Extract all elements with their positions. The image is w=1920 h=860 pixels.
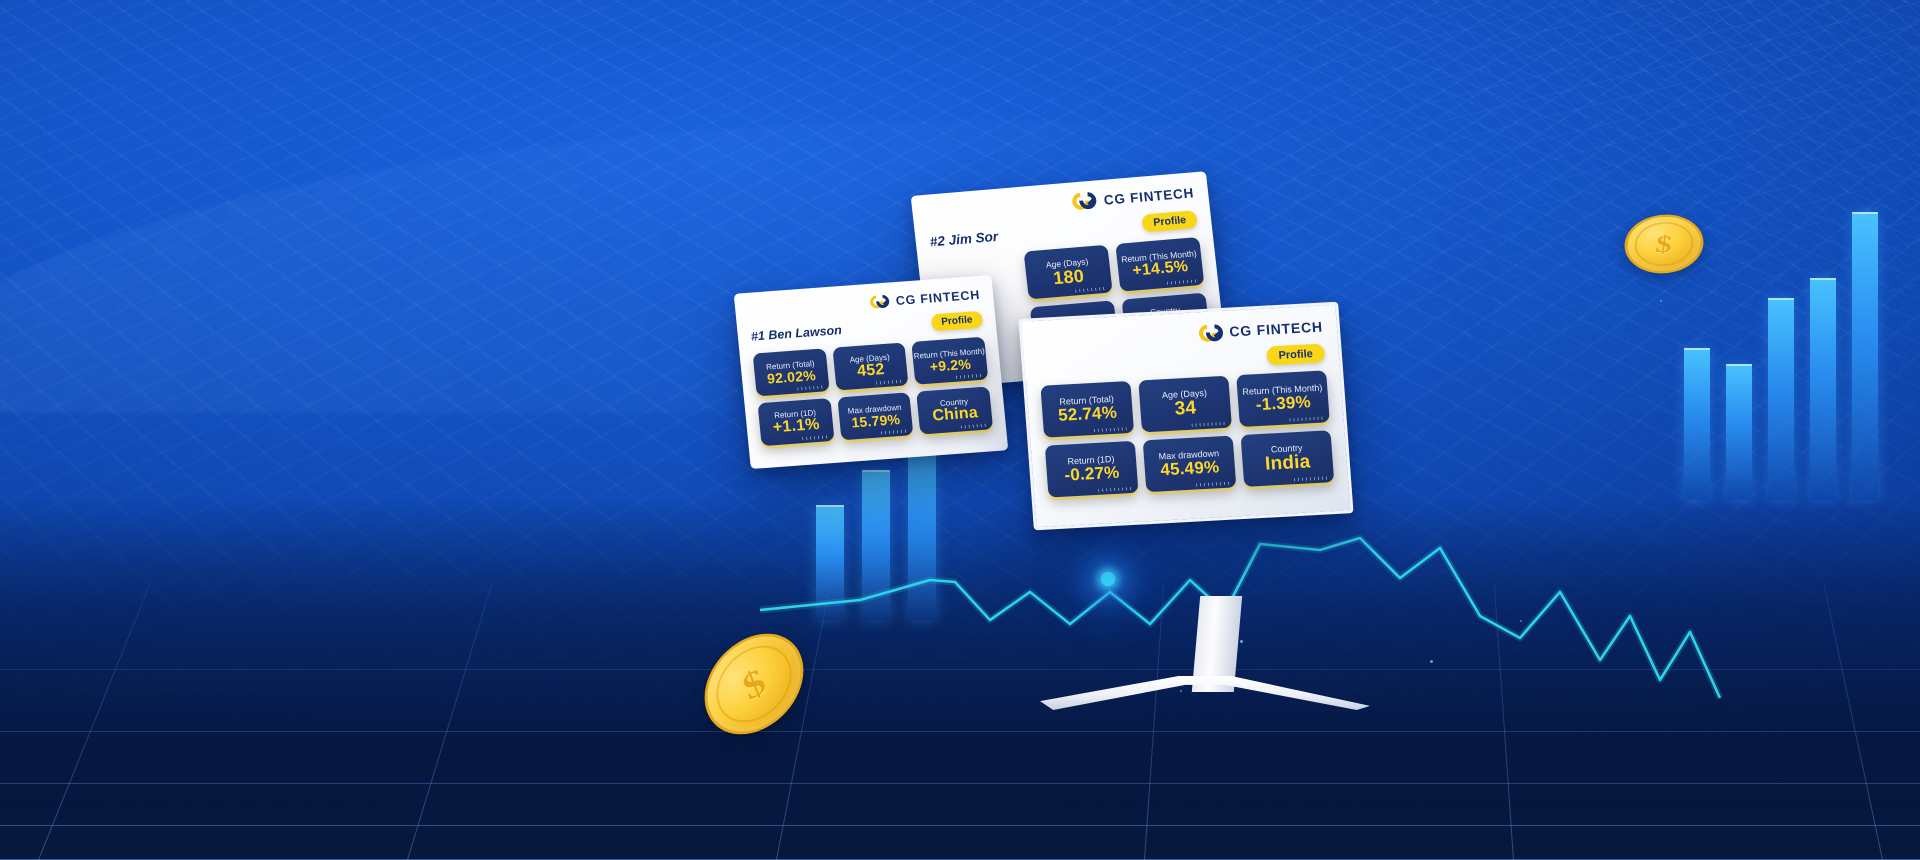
- sparkle-dot: [1660, 300, 1662, 302]
- stat-value: China: [932, 405, 979, 425]
- stat-tile[interactable]: Return (1D) -0.27%: [1045, 441, 1139, 498]
- cg-logo-icon: [1199, 323, 1223, 342]
- tile-dots: [876, 380, 902, 385]
- tile-dots: [1167, 279, 1197, 285]
- tile-dots: [1290, 417, 1323, 422]
- stat-tile[interactable]: Return (This Month) -1.39%: [1236, 370, 1330, 427]
- card-title: #1 Ben Lawson: [750, 323, 842, 344]
- profile-button[interactable]: Profile: [931, 311, 984, 332]
- tile-dots: [881, 429, 907, 434]
- tile-dots: [956, 374, 982, 379]
- tile-dots: [961, 424, 987, 429]
- stat-value: India: [1264, 452, 1311, 474]
- stats-grid: Return (Total) 52.74% Age (Days) 34 Retu…: [1040, 370, 1334, 497]
- card-title: #2 Jim Sor: [929, 228, 999, 249]
- stat-value: 92.02%: [766, 368, 816, 386]
- hero-scene: $ $ CG FINTECH #2 Jim Sor Profile Return…: [0, 0, 1920, 860]
- stat-tile[interactable]: Max drawdown 15.79%: [837, 392, 914, 440]
- cg-logo: CG FINTECH: [1071, 182, 1195, 212]
- sparkle-dot: [1520, 620, 1522, 622]
- trend-line-chart: [760, 520, 1920, 720]
- cg-logo: CG FINTECH: [1199, 318, 1324, 343]
- tile-dots: [1099, 487, 1132, 492]
- tile-dots: [1294, 476, 1327, 481]
- stat-tile[interactable]: Return (This Month) +9.2%: [912, 337, 989, 385]
- stat-value: 45.49%: [1160, 458, 1220, 479]
- stat-value: 180: [1052, 266, 1085, 287]
- sparkle-dot: [1180, 690, 1182, 692]
- cg-logo-icon: [869, 294, 889, 310]
- profile-button[interactable]: Profile: [1141, 210, 1198, 232]
- stat-value: 15.79%: [851, 412, 901, 430]
- tile-dots: [797, 386, 823, 391]
- brand-wordmark: CG FINTECH: [895, 288, 981, 308]
- stat-tile[interactable]: Age (Days) 180: [1024, 245, 1113, 300]
- stat-value: -0.27%: [1064, 464, 1120, 485]
- stat-tile[interactable]: Return (This Month) +14.5%: [1115, 237, 1204, 292]
- stat-tile[interactable]: Age (Days) 34: [1138, 376, 1232, 433]
- tile-dots: [1192, 422, 1225, 427]
- tile-dots: [802, 435, 828, 440]
- bar-chart-right: [1680, 180, 1920, 500]
- brand-wordmark: CG FINTECH: [1103, 185, 1195, 207]
- tile-dots: [1094, 427, 1127, 432]
- profile-button[interactable]: Profile: [1266, 343, 1326, 365]
- stat-value: -1.39%: [1255, 393, 1311, 414]
- tile-dots: [1075, 287, 1105, 293]
- data-point-glow: [1101, 572, 1115, 586]
- stat-tile[interactable]: Return (1D) +1.1%: [758, 398, 835, 446]
- tile-dots: [1196, 482, 1229, 487]
- stat-value: +9.2%: [929, 356, 971, 374]
- leaderboard-card-1[interactable]: CG FINTECH #1 Ben Lawson Profile Return …: [734, 275, 1009, 469]
- stat-tile[interactable]: Return (Total) 92.02%: [753, 348, 830, 396]
- stat-value: +14.5%: [1132, 259, 1190, 280]
- stats-grid: Return (Total) 92.02% Age (Days) 452 Ret…: [753, 337, 994, 447]
- cg-logo-icon: [1071, 190, 1098, 212]
- stat-tile[interactable]: Max drawdown 45.49%: [1143, 436, 1237, 493]
- stat-value: 452: [856, 362, 885, 381]
- stat-value: 34: [1174, 398, 1197, 419]
- leaderboard-card-3[interactable]: CG FINTECH Profile Return (Total) 52.74%…: [1018, 302, 1353, 531]
- coin-symbol: $: [1624, 216, 1704, 273]
- stat-value: +1.1%: [772, 417, 820, 437]
- stat-tile[interactable]: Return (Total) 52.74%: [1040, 381, 1134, 438]
- brand-wordmark: CG FINTECH: [1229, 319, 1324, 340]
- gold-coin-icon-right: $: [1621, 213, 1708, 274]
- stat-value: 52.74%: [1058, 404, 1118, 425]
- stat-tile[interactable]: Country India: [1241, 430, 1335, 487]
- stat-tile[interactable]: Age (Days) 452: [832, 342, 909, 390]
- sparkle-dot: [1240, 640, 1243, 643]
- sparkle-dot: [1430, 660, 1433, 663]
- stat-tile[interactable]: Country China: [916, 386, 993, 434]
- cg-logo: CG FINTECH: [869, 287, 981, 310]
